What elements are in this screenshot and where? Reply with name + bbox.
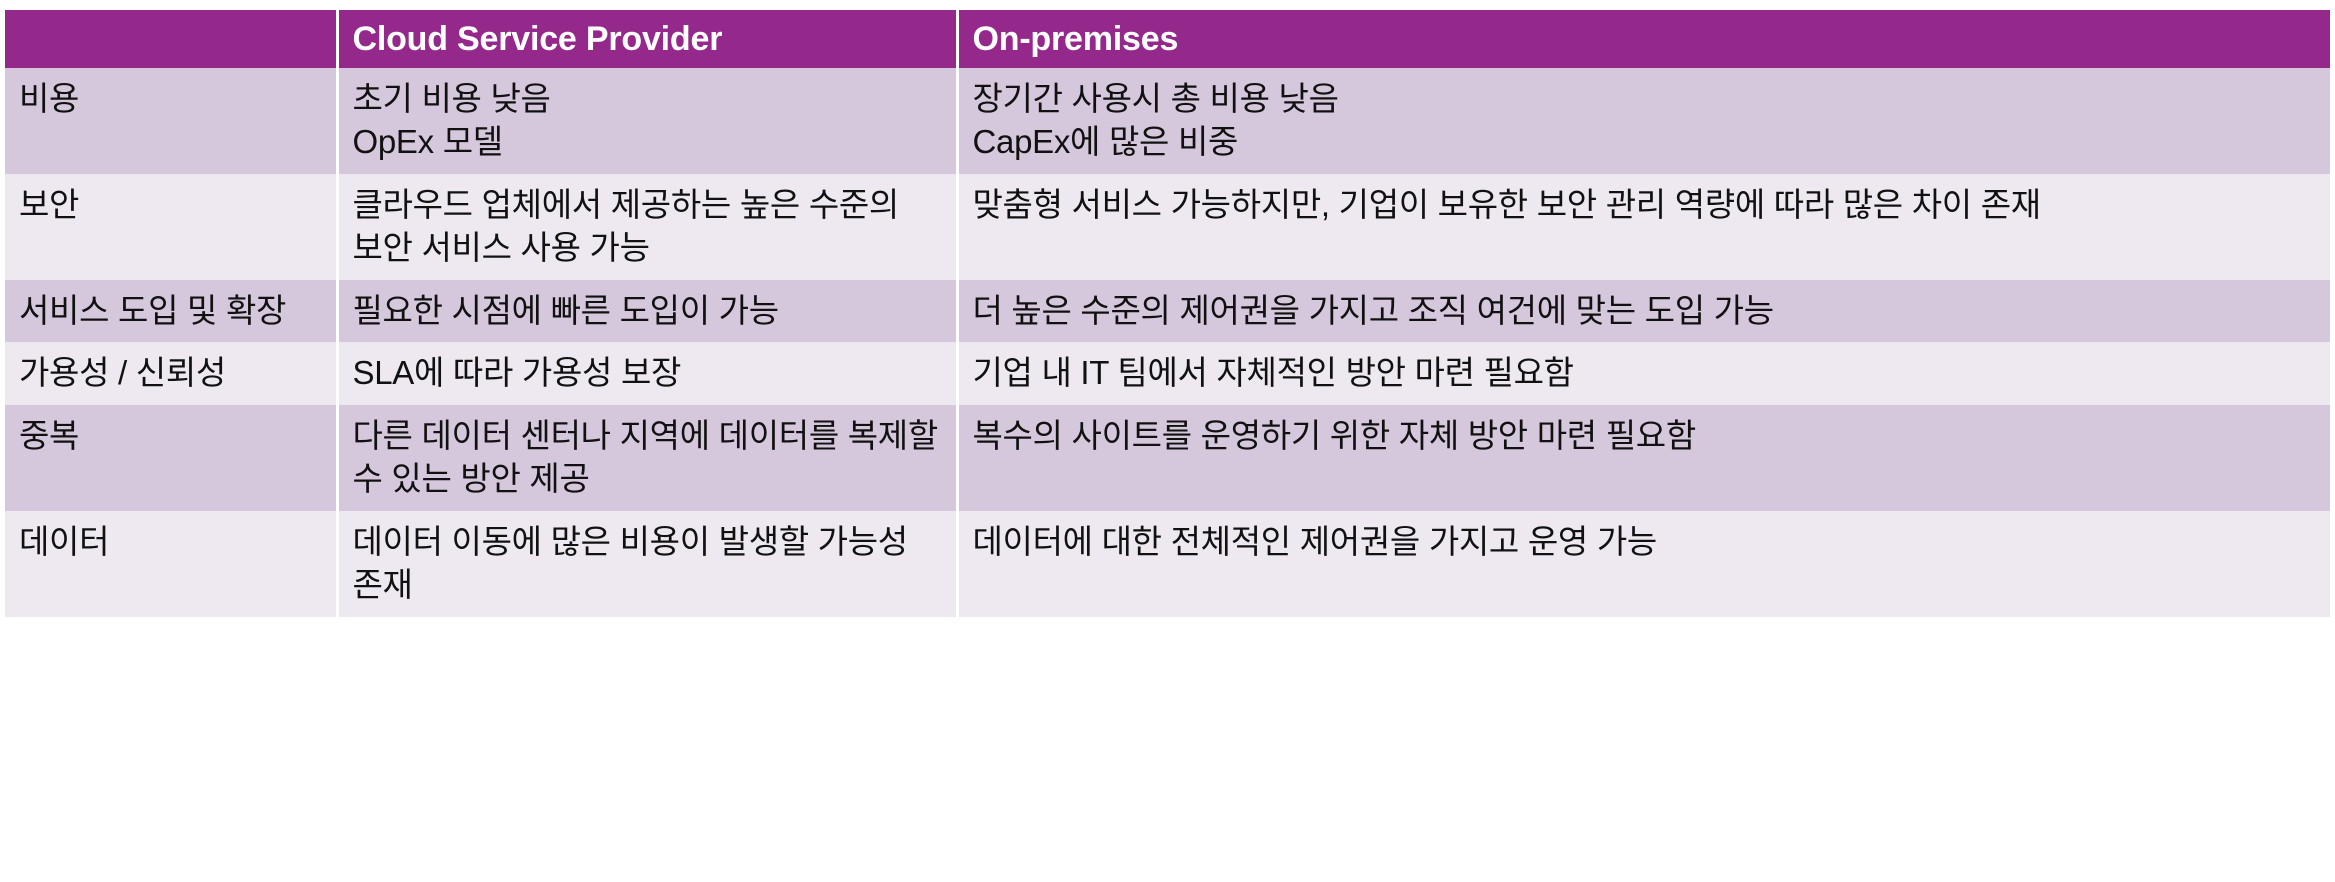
cell-security-csp: 클라우드 업체에서 제공하는 높은 수준의 보안 서비스 사용 가능 [337, 174, 957, 280]
cell-data-onprem: 데이터에 대한 전체적인 제어권을 가지고 운영 가능 [957, 511, 2330, 617]
row-category-redundancy: 중복 [5, 405, 337, 511]
cell-availability-csp: SLA에 따라 가용성 보장 [337, 342, 957, 405]
row-category-availability-reliability: 가용성 / 신뢰성 [5, 342, 337, 405]
row-category-service-adoption-scaling: 서비스 도입 및 확장 [5, 280, 337, 343]
table-body: 비용 초기 비용 낮음 OpEx 모델 장기간 사용시 총 비용 낮음 CapE… [5, 68, 2330, 617]
table-row: 서비스 도입 및 확장 필요한 시점에 빠른 도입이 가능 더 높은 수준의 제… [5, 280, 2330, 343]
table-row: 데이터 데이터 이동에 많은 비용이 발생할 가능성 존재 데이터에 대한 전체… [5, 511, 2330, 617]
table-header-row: Cloud Service Provider On-premises [5, 10, 2330, 68]
table-header: Cloud Service Provider On-premises [5, 10, 2330, 68]
column-header-on-premises: On-premises [957, 10, 2330, 68]
cell-service-adoption-onprem: 더 높은 수준의 제어권을 가지고 조직 여건에 맞는 도입 가능 [957, 280, 2330, 343]
cell-cost-csp: 초기 비용 낮음 OpEx 모델 [337, 68, 957, 174]
cell-cost-onprem: 장기간 사용시 총 비용 낮음 CapEx에 많은 비중 [957, 68, 2330, 174]
table-row: 중복 다른 데이터 센터나 지역에 데이터를 복제할 수 있는 방안 제공 복수… [5, 405, 2330, 511]
row-category-data: 데이터 [5, 511, 337, 617]
comparison-table-container: Cloud Service Provider On-premises 비용 초기… [0, 0, 2335, 882]
cloud-vs-onpremises-comparison-table: Cloud Service Provider On-premises 비용 초기… [5, 10, 2330, 617]
cell-redundancy-csp: 다른 데이터 센터나 지역에 데이터를 복제할 수 있는 방안 제공 [337, 405, 957, 511]
table-row: 보안 클라우드 업체에서 제공하는 높은 수준의 보안 서비스 사용 가능 맞춤… [5, 174, 2330, 280]
cell-data-csp: 데이터 이동에 많은 비용이 발생할 가능성 존재 [337, 511, 957, 617]
cell-security-onprem: 맞춤형 서비스 가능하지만, 기업이 보유한 보안 관리 역량에 따라 많은 차… [957, 174, 2330, 280]
table-row: 가용성 / 신뢰성 SLA에 따라 가용성 보장 기업 내 IT 팀에서 자체적… [5, 342, 2330, 405]
column-header-category [5, 10, 337, 68]
row-category-security: 보안 [5, 174, 337, 280]
row-category-cost: 비용 [5, 68, 337, 174]
cell-availability-onprem: 기업 내 IT 팀에서 자체적인 방안 마련 필요함 [957, 342, 2330, 405]
column-header-cloud-service-provider: Cloud Service Provider [337, 10, 957, 68]
cell-service-adoption-csp: 필요한 시점에 빠른 도입이 가능 [337, 280, 957, 343]
cell-redundancy-onprem: 복수의 사이트를 운영하기 위한 자체 방안 마련 필요함 [957, 405, 2330, 511]
table-row: 비용 초기 비용 낮음 OpEx 모델 장기간 사용시 총 비용 낮음 CapE… [5, 68, 2330, 174]
